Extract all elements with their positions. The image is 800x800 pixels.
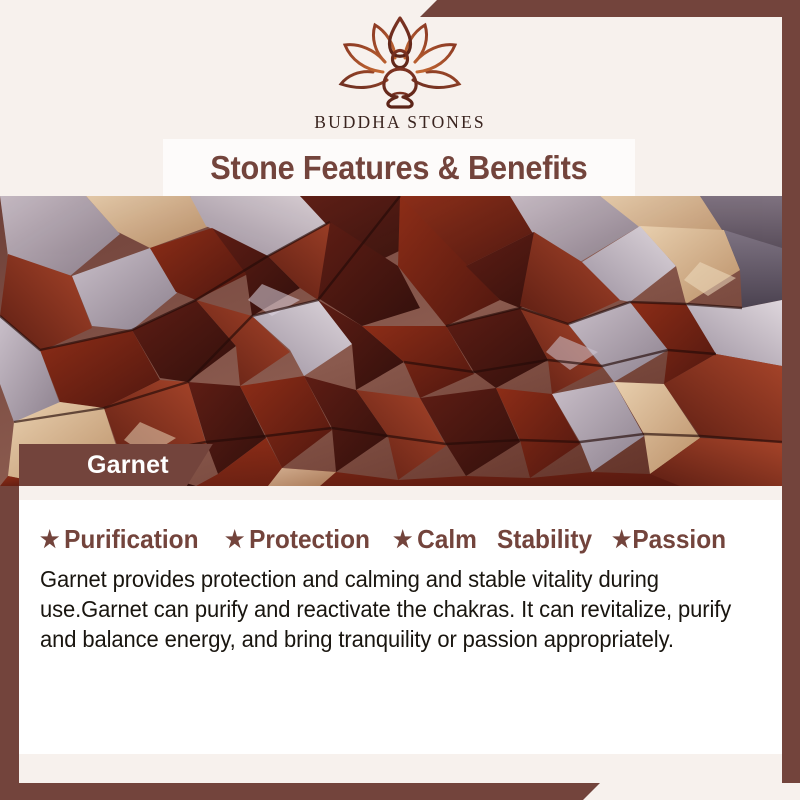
star-icon: ★ — [393, 528, 412, 551]
lotus-meditation-icon — [325, 14, 475, 110]
benefit-label: Calm — [417, 524, 477, 555]
benefit-label: Protection — [249, 524, 370, 555]
content-panel: ★ Purification ★ Protection ★ Calm Stabi… — [19, 500, 782, 754]
brand-logo: BUDDHA STONES — [0, 14, 800, 133]
frame-bar-bottom — [0, 783, 600, 800]
stone-description: Garnet provides protection and calming a… — [40, 564, 751, 654]
brand-name: BUDDHA STONES — [314, 112, 485, 133]
benefit-item-protection: ★ Protection — [225, 524, 370, 555]
star-icon: ★ — [225, 528, 244, 551]
benefit-item-purification: ★ Purification — [40, 524, 199, 555]
stone-name-badge: Garnet — [19, 444, 213, 486]
star-icon: ★ — [612, 528, 631, 551]
benefit-item-stability: Stability — [497, 524, 592, 555]
benefit-label: Purification — [64, 524, 198, 555]
benefit-item-passion: ★ Passion — [612, 524, 726, 555]
infographic-card: BUDDHA STONES Stone Features & Benefits — [0, 0, 800, 800]
body-divider-strip — [19, 486, 782, 500]
benefit-label: Passion — [633, 524, 727, 555]
stone-photo: Garnet — [0, 196, 782, 486]
stone-name-label: Garnet — [87, 451, 169, 480]
garnet-crystal-cluster-illustration — [0, 196, 782, 486]
page-title: Stone Features & Benefits — [210, 149, 587, 187]
benefits-row: ★ Purification ★ Protection ★ Calm Stabi… — [40, 524, 756, 555]
frame-bar-right-lower — [782, 578, 800, 783]
header: BUDDHA STONES Stone Features & Benefits — [0, 0, 800, 196]
title-panel: Stone Features & Benefits — [163, 139, 635, 196]
benefit-item-calm: ★ Calm — [393, 524, 477, 555]
star-icon: ★ — [40, 528, 59, 551]
benefit-label: Stability — [497, 524, 592, 555]
